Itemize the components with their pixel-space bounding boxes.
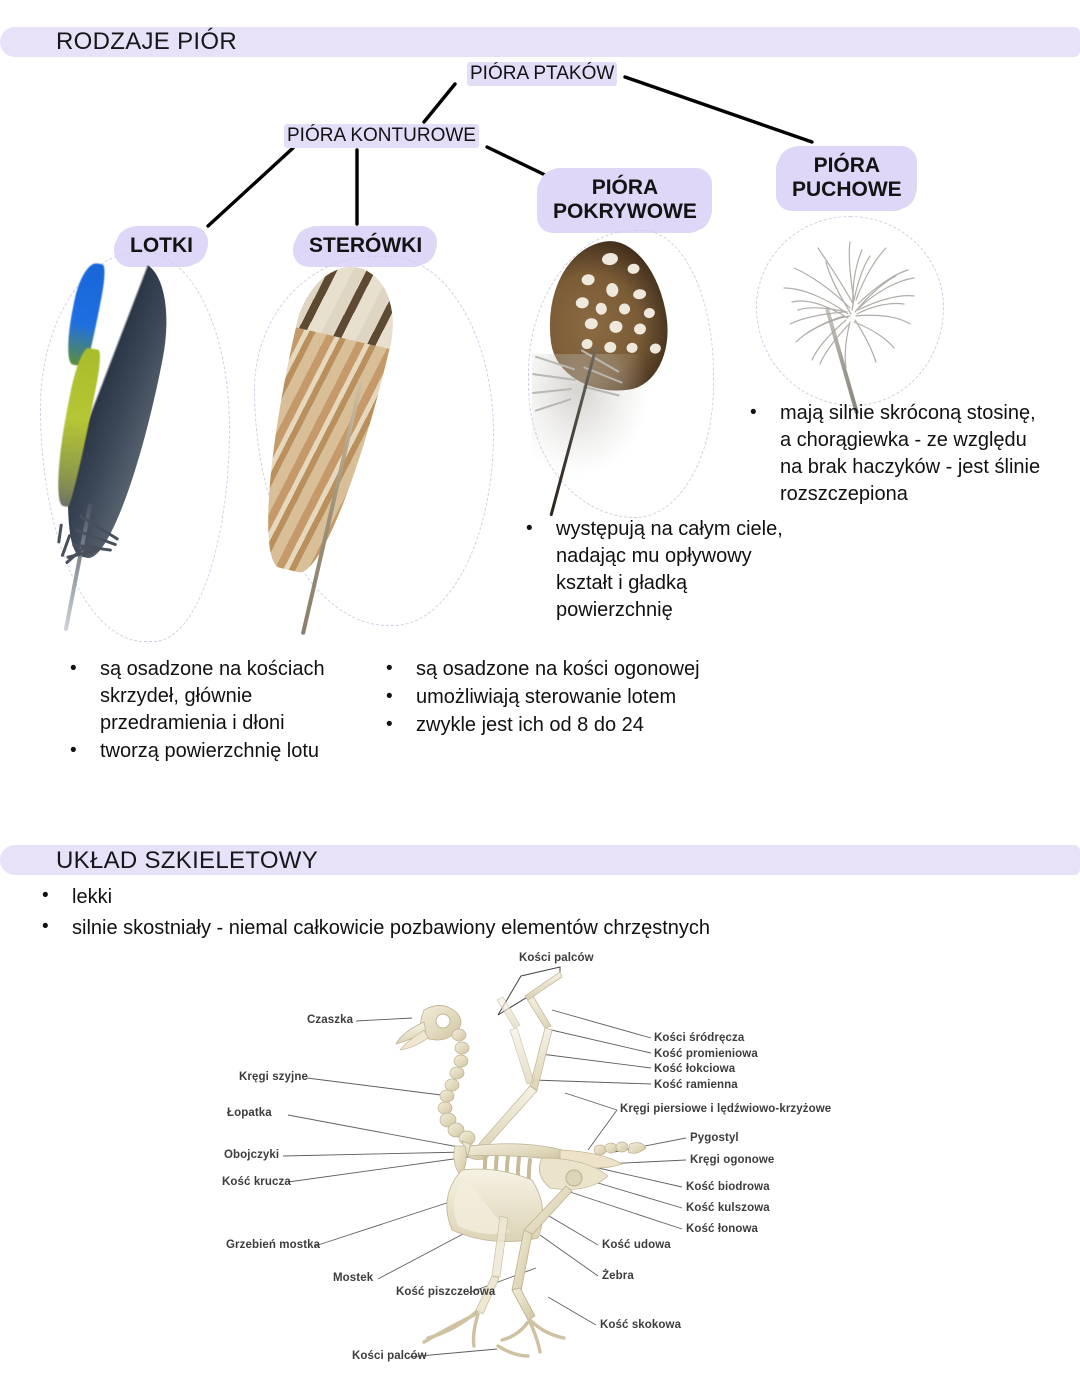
notes-puchowe: mają silnie skróconą stosinę, a chorągie… (736, 400, 1046, 509)
skeleton-label-kregi-ogonowe: Kręgi ogonowe (690, 1154, 774, 1166)
skeleton-label-kosc-ramienna: Kość ramienna (654, 1079, 738, 1091)
pokrywowe-fluff-barb (532, 388, 572, 394)
pokrywowe-fluff-barb (535, 398, 572, 412)
skeleton-label-obojczyki: Obojczyki (224, 1149, 279, 1161)
skeleton-label-kosc-udowa: Kość udowa (602, 1239, 671, 1251)
skeleton-label-kregi-szyjne: Kręgi szyjne (239, 1071, 308, 1083)
skeleton-label-kosci-palcow-foot: Kości palców (352, 1350, 427, 1362)
pokrywowe-spot (581, 273, 595, 286)
list-item: lekki (30, 882, 1030, 912)
pokrywowe-spot (633, 323, 646, 336)
skeleton-label-kosc-skokowa: Kość skokowa (600, 1319, 681, 1331)
pokrywowe-fluff-barb (532, 373, 576, 381)
pokrywowe-spot (581, 338, 593, 349)
skeleton-label-pygostyl: Pygostyl (690, 1132, 739, 1144)
pokrywowe-spot (649, 343, 661, 354)
pokrywowe-spot (584, 317, 598, 330)
list-item: są osadzone na kościach skrzydeł, główni… (56, 656, 376, 737)
tree-leaf-puchowe-line2: PUCHOWE (792, 178, 902, 201)
list-item: mają silnie skróconą stosinę, a chorągie… (736, 400, 1046, 508)
tree-leaf-puchowe-line1: PIÓRA (814, 154, 881, 177)
skeleton-label-kosc-kulszowa: Kość kulszowa (686, 1202, 770, 1214)
feather-image-lotki (40, 252, 240, 652)
skeleton-artwork (0, 935, 1080, 1397)
notes-sterowki: są osadzone na kości ogonowej umożliwiaj… (372, 656, 702, 740)
pokrywowe-fluff-barb (582, 385, 619, 396)
tree-leaf-pokrywowe-line1: PIÓRA (592, 176, 659, 199)
pokrywowe-spot (633, 288, 647, 300)
skeleton-label-grzebien-mostka: Grzebień mostka (226, 1239, 320, 1251)
feather-image-pokrywowe (528, 234, 728, 524)
pokrywowe-spot (601, 252, 619, 266)
list-item: zwykle jest ich od 8 do 24 (372, 712, 702, 739)
skeleton-label-czaszka: Czaszka (307, 1014, 353, 1026)
list-item: umożliwiają sterowanie lotem (372, 684, 702, 711)
list-item: występują na całym ciele, nadając mu opł… (512, 516, 800, 624)
tree-leaf-pokrywowe-label: PIÓRA POKRYWOWE (543, 173, 707, 227)
pokrywowe-fluff-barb (535, 356, 576, 371)
skeleton-label-kosci-srodrecza: Kości śródręcza (654, 1032, 744, 1044)
skeleton-label-kosci-palcow-wing: Kości palców (519, 952, 594, 964)
pokrywowe-spot (626, 342, 638, 353)
skeleton-label-kosc-lokciowa: Kość łokciowa (654, 1063, 735, 1075)
pokrywowe-spot (604, 341, 617, 354)
pokrywowe-spot (643, 307, 655, 318)
puchowe-barbs (752, 222, 962, 422)
skeleton-label-lopatka: Łopatka (227, 1107, 272, 1119)
tree-branch-contour-label: PIÓRA KONTUROWE (284, 124, 479, 148)
skeleton-label-kosc-krucza: Kość krucza (222, 1176, 291, 1188)
pokrywowe-spot (627, 263, 640, 275)
skeleton-label-mostek: Mostek (333, 1272, 373, 1284)
tree-root-label: PIÓRA PTAKÓW (467, 62, 617, 86)
pokrywowe-spot (609, 320, 624, 334)
feather-image-sterowki (258, 258, 508, 658)
tree-leaf-puchowe-label: PIÓRA PUCHOWE (782, 151, 912, 205)
list-item: są osadzone na kości ogonowej (372, 656, 702, 683)
pokrywowe-spot (575, 296, 589, 309)
notes-pokrywowe: występują na całym ciele, nadając mu opł… (512, 516, 800, 625)
pokrywowe-spot (605, 282, 619, 298)
list-item: tworzą powierzchnię lotu (56, 738, 376, 765)
skeleton-label-zebra: Żebra (602, 1270, 634, 1282)
tree-leaf-pokrywowe-line2: POKRYWOWE (553, 200, 697, 223)
skeleton-label-kosc-piszczelowa: Kość piszczelowa (396, 1286, 495, 1298)
skeleton-diagram: Kości palców Czaszka Kręgi szyjne Łopatk… (0, 935, 1080, 1397)
skeleton-label-kosc-promieniowa: Kość promieniowa (654, 1048, 758, 1060)
skeleton-label-kregi-piersiowe: Kręgi piersiowe i lędźwiowo-krzyżowe (620, 1103, 831, 1115)
skeleton-label-kosc-lonowa: Kość łonowa (686, 1223, 758, 1235)
page-title-skeleton: UKŁAD SZKIELETOWY (56, 847, 318, 875)
pokrywowe-spot (618, 303, 630, 315)
notes-lotki: są osadzone na kościach skrzydeł, główni… (56, 656, 376, 766)
skeleton-label-kosc-biodrowa: Kość biodrowa (686, 1181, 770, 1193)
feather-image-puchowe (752, 222, 962, 422)
page-title-feathers: RODZAJE PIÓR (56, 28, 237, 56)
pokrywowe-spot (595, 302, 608, 315)
